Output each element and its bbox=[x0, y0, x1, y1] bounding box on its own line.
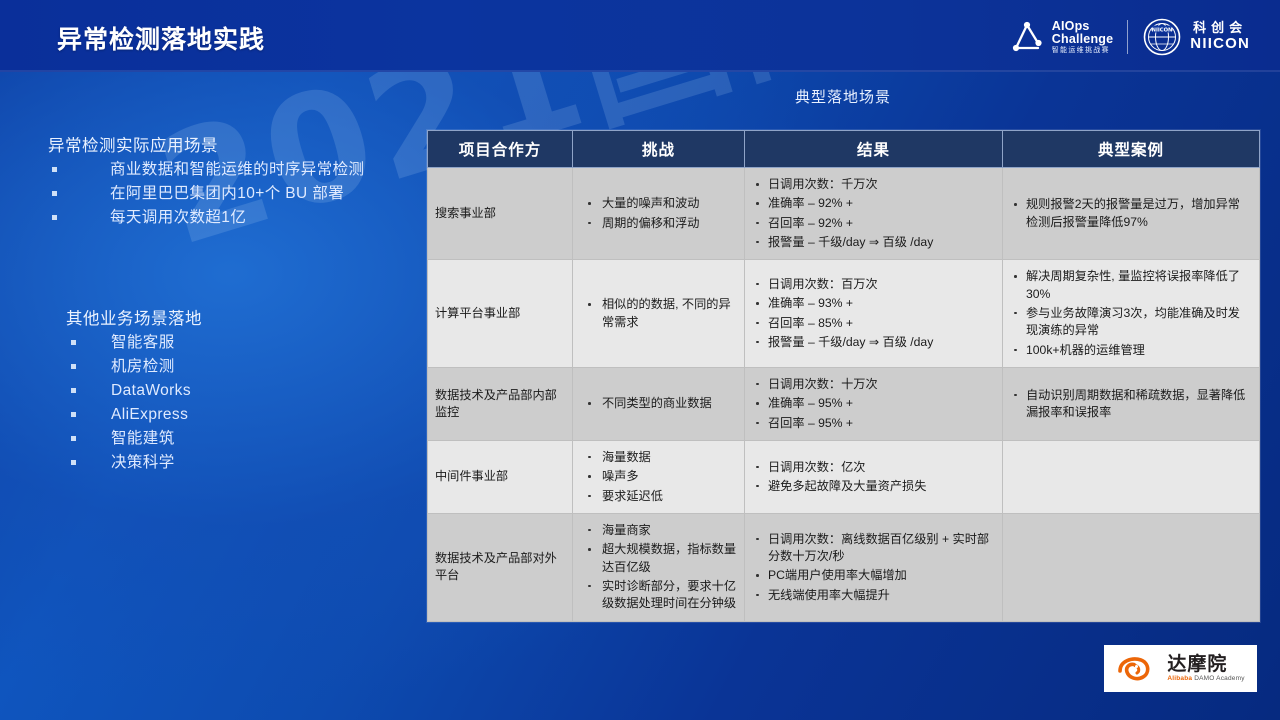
damo-logo-text: 达摩院 Alibaba DAMO Academy bbox=[1167, 655, 1244, 683]
column-header-result: 结果 bbox=[745, 131, 1003, 168]
list-item: 机房检测 bbox=[66, 357, 466, 378]
cell-list-item: 相似的的数据, 不同的异常需求 bbox=[580, 296, 737, 331]
table-body: 搜索事业部大量的噪声和波动周期的偏移和浮动日调用次数：千万次准确率 – 92% … bbox=[428, 168, 1260, 622]
cell-list-item: 解决周期复杂性, 量监控将误报率降低了30% bbox=[1010, 268, 1252, 303]
cell-list-item: 日调用次数：离线数据百亿级别 + 实时部分数十万次/秒 bbox=[752, 531, 995, 566]
niicon-logo-en: NIICON bbox=[1190, 36, 1250, 52]
cell-list-item: 报警量 – 千级/day ⇒ 百级 /day bbox=[752, 234, 995, 251]
cell-case bbox=[1003, 513, 1260, 621]
cell-list-item: 不同类型的商业数据 bbox=[580, 395, 737, 412]
cell-party: 计算平台事业部 bbox=[428, 260, 573, 368]
aiops-logo-line2: Challenge bbox=[1052, 33, 1114, 46]
cell-list-item: 自动识别周期数据和稀疏数据，显著降低漏报率和误报率 bbox=[1010, 387, 1252, 422]
aiops-challenge-logo: AIOps Challenge 智能运维挑战赛 bbox=[1011, 20, 1114, 54]
cell-list: 解决周期复杂性, 量监控将误报率降低了30%参与业务故障演习3次，均能准确及时发… bbox=[1010, 268, 1252, 359]
cell-result: 日调用次数：亿次避免多起故障及大量资产损失 bbox=[745, 440, 1003, 513]
table-caption: 典型落地场景 bbox=[427, 86, 1259, 107]
left-block-applications: 异常检测实际应用场景 商业数据和智能运维的时序异常检测 在阿里巴巴集团内10+个… bbox=[48, 132, 448, 232]
cell-list-item: 准确率 – 93% + bbox=[752, 295, 995, 312]
left-block-other-scenarios: 其他业务场景落地 智能客服 机房检测 DataWorks AliExpress … bbox=[66, 305, 466, 477]
cell-list-item: 海量商家 bbox=[580, 522, 737, 539]
cell-list: 日调用次数：百万次准确率 – 93% +召回率 – 85% +报警量 – 千级/… bbox=[752, 276, 995, 351]
list-item: DataWorks bbox=[66, 381, 466, 402]
logo-divider bbox=[1127, 20, 1128, 54]
applications-list: 商业数据和智能运维的时序异常检测 在阿里巴巴集团内10+个 BU 部署 每天调用… bbox=[48, 160, 448, 229]
table-row: 计算平台事业部相似的的数据, 不同的异常需求日调用次数：百万次准确率 – 93%… bbox=[428, 260, 1260, 368]
cell-list-item: 海量数据 bbox=[580, 449, 737, 466]
cell-list-item: 准确率 – 92% + bbox=[752, 195, 995, 212]
aiops-logo-text: AIOps Challenge 智能运维挑战赛 bbox=[1052, 20, 1114, 54]
cell-party: 数据技术及产品部对外平台 bbox=[428, 513, 573, 621]
damo-subtitle: DAMO Academy bbox=[1192, 675, 1244, 682]
cell-result: 日调用次数：离线数据百亿级别 + 实时部分数十万次/秒PC端用户使用率大幅增加无… bbox=[745, 513, 1003, 621]
cell-list: 不同类型的商业数据 bbox=[580, 395, 737, 412]
svg-text:NIICON: NIICON bbox=[1152, 28, 1173, 34]
cell-party: 中间件事业部 bbox=[428, 440, 573, 513]
globe-icon: NIICON bbox=[1142, 17, 1182, 57]
cell-list: 自动识别周期数据和稀疏数据，显著降低漏报率和误报率 bbox=[1010, 387, 1252, 422]
cell-case bbox=[1003, 440, 1260, 513]
cell-challenge: 相似的的数据, 不同的异常需求 bbox=[573, 260, 745, 368]
cell-list-item: PC端用户使用率大幅增加 bbox=[752, 567, 995, 584]
list-item: 每天调用次数超1亿 bbox=[48, 208, 448, 229]
cell-list-item: 实时诊断部分，要求十亿级数据处理时间在分钟级 bbox=[580, 578, 737, 613]
cell-list: 规则报警2天的报警量是过万，增加异常检测后报警量降低97% bbox=[1010, 196, 1252, 231]
cell-list-item: 噪声多 bbox=[580, 468, 737, 485]
page-title: 异常检测落地实践 bbox=[57, 20, 265, 56]
slide: 2021国际AIOps挑战赛 异常检测落地实践 AIOps Challenge … bbox=[0, 0, 1280, 720]
cell-list-item: 召回率 – 85% + bbox=[752, 315, 995, 332]
cell-result: 日调用次数：百万次准确率 – 93% +召回率 – 85% +报警量 – 千级/… bbox=[745, 260, 1003, 368]
cell-list-item: 准确率 – 95% + bbox=[752, 395, 995, 412]
other-scenarios-list: 智能客服 机房检测 DataWorks AliExpress 智能建筑 决策科学 bbox=[66, 333, 466, 474]
cell-list-item: 周期的偏移和浮动 bbox=[580, 215, 737, 232]
applications-heading: 异常检测实际应用场景 bbox=[48, 132, 448, 156]
other-scenarios-heading: 其他业务场景落地 bbox=[66, 305, 466, 329]
cell-list: 海量商家超大规模数据，指标数量达百亿级实时诊断部分，要求十亿级数据处理时间在分钟… bbox=[580, 522, 737, 613]
cell-list: 日调用次数：亿次避免多起故障及大量资产损失 bbox=[752, 459, 995, 496]
cell-list-item: 无线端使用率大幅提升 bbox=[752, 587, 995, 604]
cell-challenge: 海量数据噪声多要求延迟低 bbox=[573, 440, 745, 513]
list-item: 智能建筑 bbox=[66, 429, 466, 450]
column-header-party: 项目合作方 bbox=[428, 131, 573, 168]
niicon-logo-text: 科创会 NIICON bbox=[1190, 22, 1250, 52]
niicon-logo: NIICON 科创会 NIICON bbox=[1142, 17, 1250, 57]
scenarios-table: 项目合作方 挑战 结果 典型案例 搜索事业部大量的噪声和波动周期的偏移和浮动日调… bbox=[427, 130, 1260, 622]
cell-list: 海量数据噪声多要求延迟低 bbox=[580, 449, 737, 505]
table-row: 中间件事业部海量数据噪声多要求延迟低日调用次数：亿次避免多起故障及大量资产损失 bbox=[428, 440, 1260, 513]
scenarios-table-wrapper: 项目合作方 挑战 结果 典型案例 搜索事业部大量的噪声和波动周期的偏移和浮动日调… bbox=[427, 130, 1259, 622]
cell-list-item: 日调用次数：十万次 bbox=[752, 376, 995, 393]
list-item: AliExpress bbox=[66, 405, 466, 426]
aiops-logo-line3: 智能运维挑战赛 bbox=[1052, 47, 1114, 54]
cell-list-item: 日调用次数：千万次 bbox=[752, 176, 995, 193]
aiops-triangle-icon bbox=[1011, 21, 1045, 53]
niicon-logo-cn: 科创会 bbox=[1190, 22, 1250, 36]
damo-logo-en: Alibaba DAMO Academy bbox=[1167, 676, 1244, 683]
cell-list-item: 100k+机器的运维管理 bbox=[1010, 342, 1252, 359]
damo-academy-logo: 达摩院 Alibaba DAMO Academy bbox=[1104, 645, 1257, 692]
column-header-challenge: 挑战 bbox=[573, 131, 745, 168]
logo-group: AIOps Challenge 智能运维挑战赛 NIICON bbox=[1011, 12, 1250, 62]
cell-challenge: 大量的噪声和波动周期的偏移和浮动 bbox=[573, 168, 745, 260]
table-row: 搜索事业部大量的噪声和波动周期的偏移和浮动日调用次数：千万次准确率 – 92% … bbox=[428, 168, 1260, 260]
cell-list-item: 日调用次数：百万次 bbox=[752, 276, 995, 293]
cell-list-item: 日调用次数：亿次 bbox=[752, 459, 995, 476]
cell-list: 相似的的数据, 不同的异常需求 bbox=[580, 296, 737, 331]
cell-result: 日调用次数：千万次准确率 – 92% +召回率 – 92% +报警量 – 千级/… bbox=[745, 168, 1003, 260]
column-header-case: 典型案例 bbox=[1003, 131, 1260, 168]
cell-list-item: 参与业务故障演习3次，均能准确及时发现演练的异常 bbox=[1010, 305, 1252, 340]
cell-list: 日调用次数：十万次准确率 – 95% +召回率 – 95% + bbox=[752, 376, 995, 432]
table-header-row: 项目合作方 挑战 结果 典型案例 bbox=[428, 131, 1260, 168]
cell-list-item: 规则报警2天的报警量是过万，增加异常检测后报警量降低97% bbox=[1010, 196, 1252, 231]
cell-list-item: 召回率 – 92% + bbox=[752, 215, 995, 232]
cell-case: 规则报警2天的报警量是过万，增加异常检测后报警量降低97% bbox=[1003, 168, 1260, 260]
cell-list-item: 要求延迟低 bbox=[580, 488, 737, 505]
cell-list-item: 大量的噪声和波动 bbox=[580, 195, 737, 212]
cell-list-item: 报警量 – 千级/day ⇒ 百级 /day bbox=[752, 334, 995, 351]
list-item: 决策科学 bbox=[66, 453, 466, 474]
cell-list-item: 超大规模数据，指标数量达百亿级 bbox=[580, 541, 737, 576]
damo-logo-cn: 达摩院 bbox=[1167, 655, 1244, 674]
cell-list: 日调用次数：离线数据百亿级别 + 实时部分数十万次/秒PC端用户使用率大幅增加无… bbox=[752, 531, 995, 604]
damo-brand: Alibaba bbox=[1167, 675, 1192, 682]
cell-list-item: 避免多起故障及大量资产损失 bbox=[752, 478, 995, 495]
cell-result: 日调用次数：十万次准确率 – 95% +召回率 – 95% + bbox=[745, 367, 1003, 440]
cell-list-item: 召回率 – 95% + bbox=[752, 415, 995, 432]
cell-case: 解决周期复杂性, 量监控将误报率降低了30%参与业务故障演习3次，均能准确及时发… bbox=[1003, 260, 1260, 368]
list-item: 商业数据和智能运维的时序异常检测 bbox=[48, 160, 448, 181]
cell-list: 大量的噪声和波动周期的偏移和浮动 bbox=[580, 195, 737, 232]
cell-party: 搜索事业部 bbox=[428, 168, 573, 260]
table-row: 数据技术及产品部内部监控不同类型的商业数据日调用次数：十万次准确率 – 95% … bbox=[428, 367, 1260, 440]
table-row: 数据技术及产品部对外平台海量商家超大规模数据，指标数量达百亿级实时诊断部分，要求… bbox=[428, 513, 1260, 621]
cell-case: 自动识别周期数据和稀疏数据，显著降低漏报率和误报率 bbox=[1003, 367, 1260, 440]
cell-challenge: 海量商家超大规模数据，指标数量达百亿级实时诊断部分，要求十亿级数据处理时间在分钟… bbox=[573, 513, 745, 621]
cell-party: 数据技术及产品部内部监控 bbox=[428, 367, 573, 440]
list-item: 智能客服 bbox=[66, 333, 466, 354]
cell-list: 日调用次数：千万次准确率 – 92% +召回率 – 92% +报警量 – 千级/… bbox=[752, 176, 995, 251]
cell-challenge: 不同类型的商业数据 bbox=[573, 367, 745, 440]
list-item: 在阿里巴巴集团内10+个 BU 部署 bbox=[48, 184, 448, 205]
damo-swirl-icon bbox=[1116, 653, 1162, 685]
